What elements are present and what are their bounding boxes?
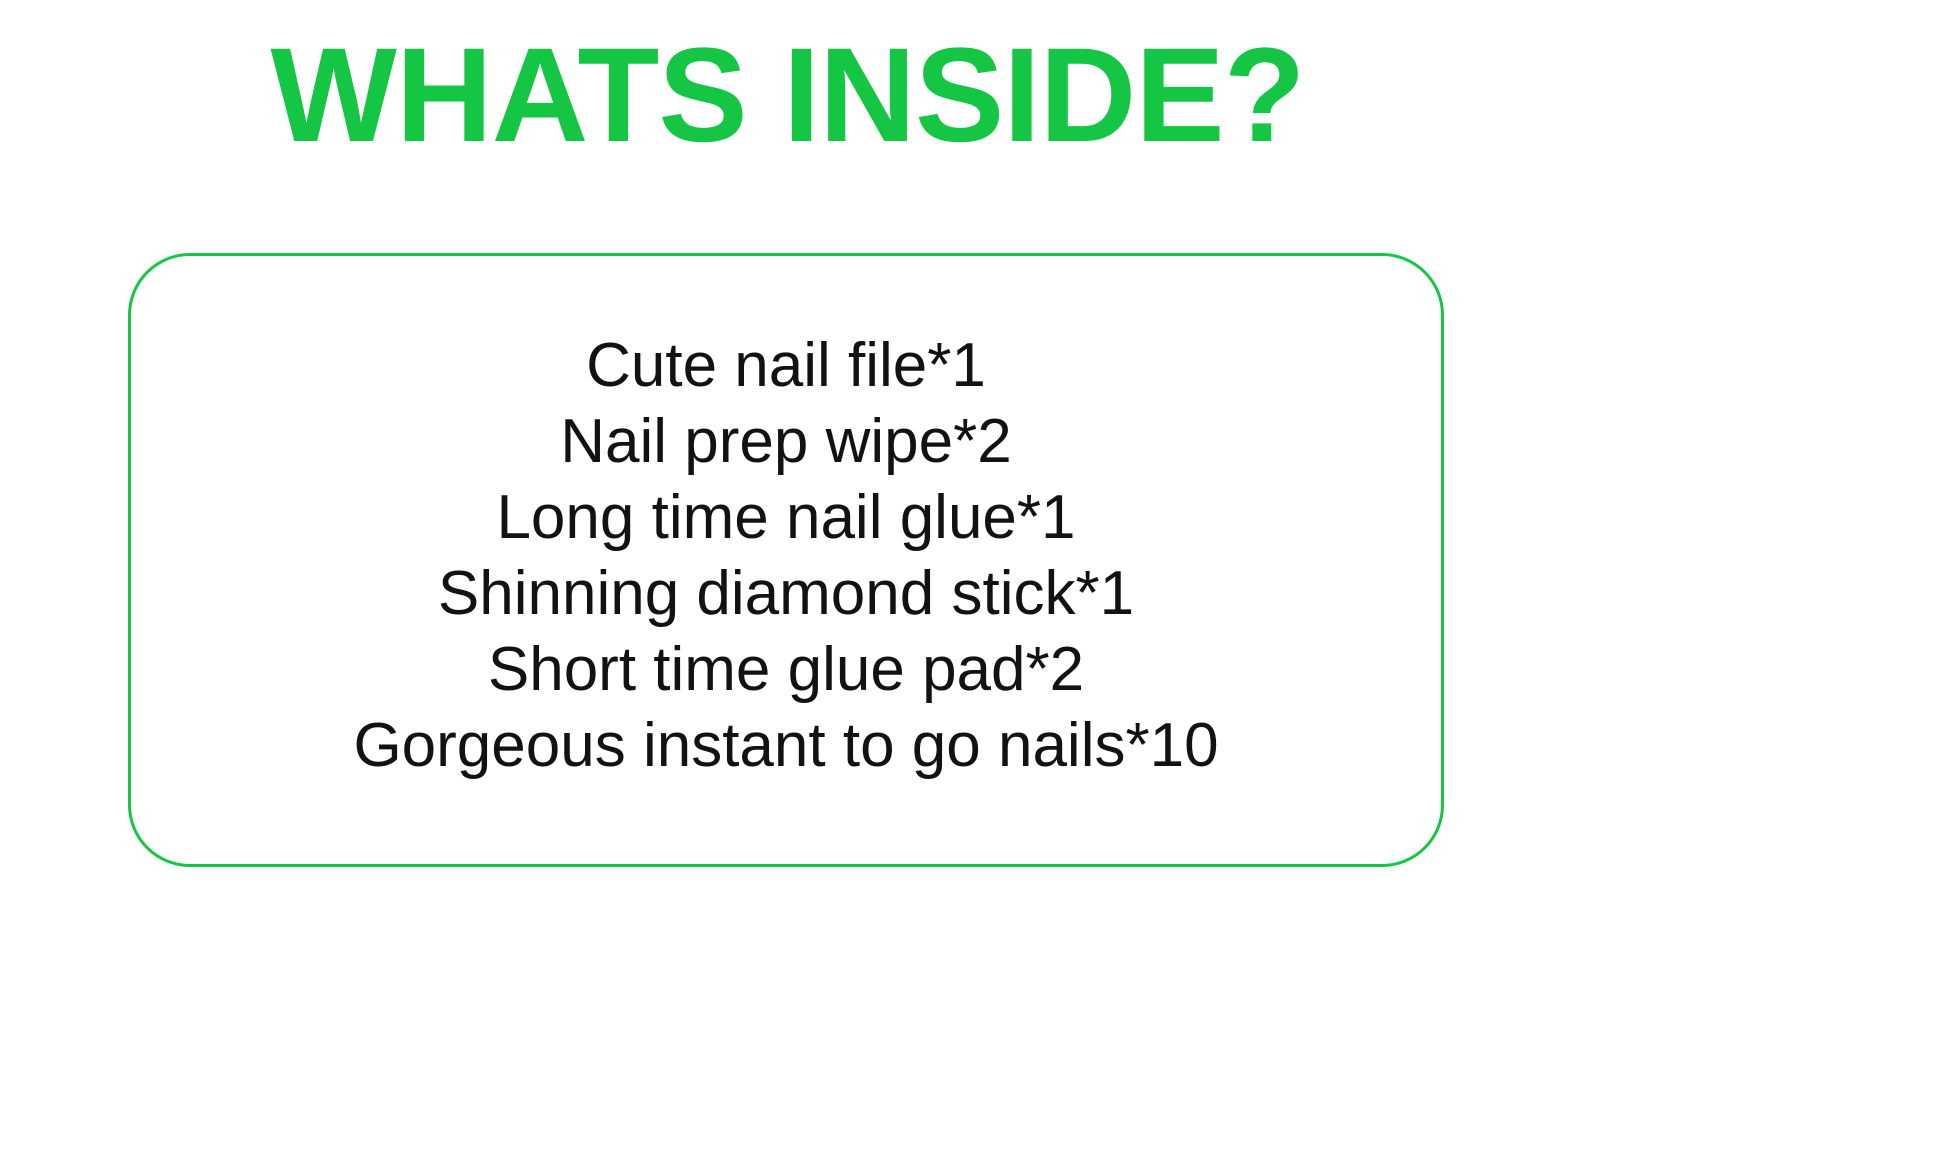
included-items-list: Cute nail file*1 Nail prep wipe*2 Long t…	[131, 328, 1441, 784]
list-item: Long time nail glue*1	[496, 480, 1075, 556]
list-item: Cute nail file*1	[586, 328, 986, 404]
page-title: WHATS INSIDE?	[0, 26, 1575, 167]
list-item: Gorgeous instant to go nails*10	[353, 708, 1218, 784]
product-info-panel: WHATS INSIDE? Cute nail file*1 Nail prep…	[0, 0, 1946, 1160]
list-item: Short time glue pad*2	[488, 632, 1084, 708]
list-item: Nail prep wipe*2	[560, 404, 1011, 480]
items-card: Cute nail file*1 Nail prep wipe*2 Long t…	[128, 253, 1444, 867]
list-item: Shinning diamond stick*1	[438, 556, 1134, 632]
